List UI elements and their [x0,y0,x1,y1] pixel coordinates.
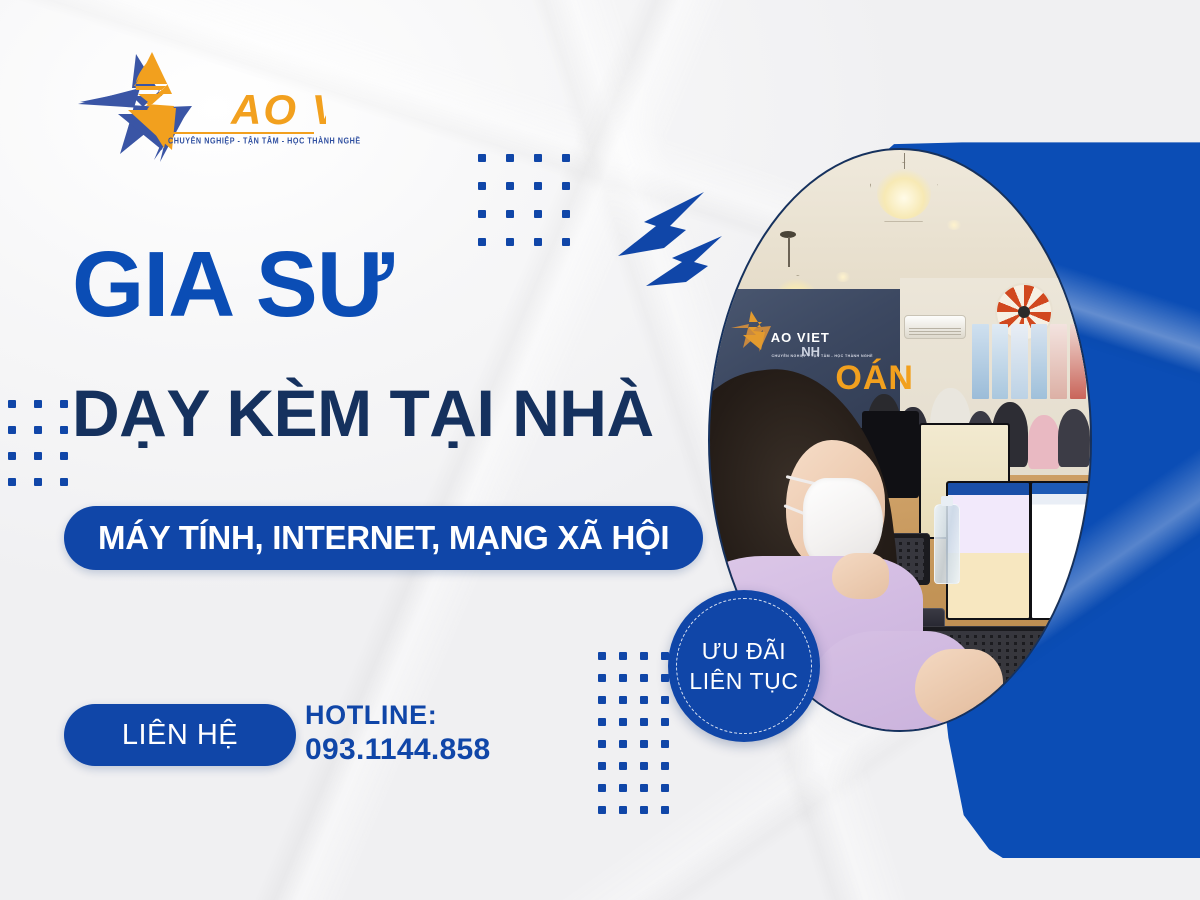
photo-poster-word-partial: NH [801,344,820,359]
offer-badge-line1: ƯU ĐÃI [702,636,787,666]
services-pill-label: MÁY TÍNH, INTERNET, MẠNG XÃ HỘI [98,519,669,557]
hotline-label: HOTLINE: [305,700,490,732]
logo-tagline: CHUYÊN NGHIỆP - TẬN TÂM - HỌC THÀNH NGHỀ [168,135,361,145]
contact-button-label: LIÊN HỆ [122,719,238,752]
photo-monitor-main [946,481,1090,620]
photo-poster-star-icon [729,310,773,352]
photo-water-bottle [934,504,960,584]
dot-grid-left [8,400,68,486]
hotline-number[interactable]: 093.1144.858 [305,732,490,767]
dot-grid-top [478,154,570,246]
svg-text:AO VIET: AO VIET [230,86,326,133]
photo-poster-tagline: CHUYÊN NGHIỆP - TẬN TÂM - HỌC THÀNH NGHỀ [772,354,873,358]
headline-secondary: DẠY KÈM TẠI NHÀ [72,380,654,446]
brand-logo[interactable]: AO VIET CHUYÊN NGHIỆP - TẬN TÂM - HỌC TH… [76,50,326,162]
lightning-bolt-icon [612,186,728,304]
dot-grid-bottom [598,652,669,814]
banner-canvas: AO VIET CHUYÊN NGHIỆP - TẬN TÂM - HỌC TH… [0,0,1200,900]
photo-ceiling-spot [946,220,962,230]
photo-poster-brand: AO VIET [771,330,830,345]
photo-student-hand-upper [832,553,889,599]
photo-screen-word-doc [1032,483,1088,618]
headline-primary: GIA SƯ [72,238,393,331]
photo-ceiling-spot [835,272,851,282]
hotline-block: HOTLINE: 093.1144.858 [305,700,490,767]
logo-divider-rule [166,132,314,134]
photo-pendant-rod [788,237,790,267]
contact-button[interactable]: LIÊN HỆ [64,704,296,766]
offer-badge[interactable]: ƯU ĐÃI LIÊN TỤC [668,590,820,742]
offer-badge-line2: LIÊN TỤC [689,666,798,696]
services-pill: MÁY TÍNH, INTERNET, MẠNG XÃ HỘI [64,506,703,570]
photo-student-hand [915,649,1002,724]
photo-air-conditioner [904,315,966,339]
